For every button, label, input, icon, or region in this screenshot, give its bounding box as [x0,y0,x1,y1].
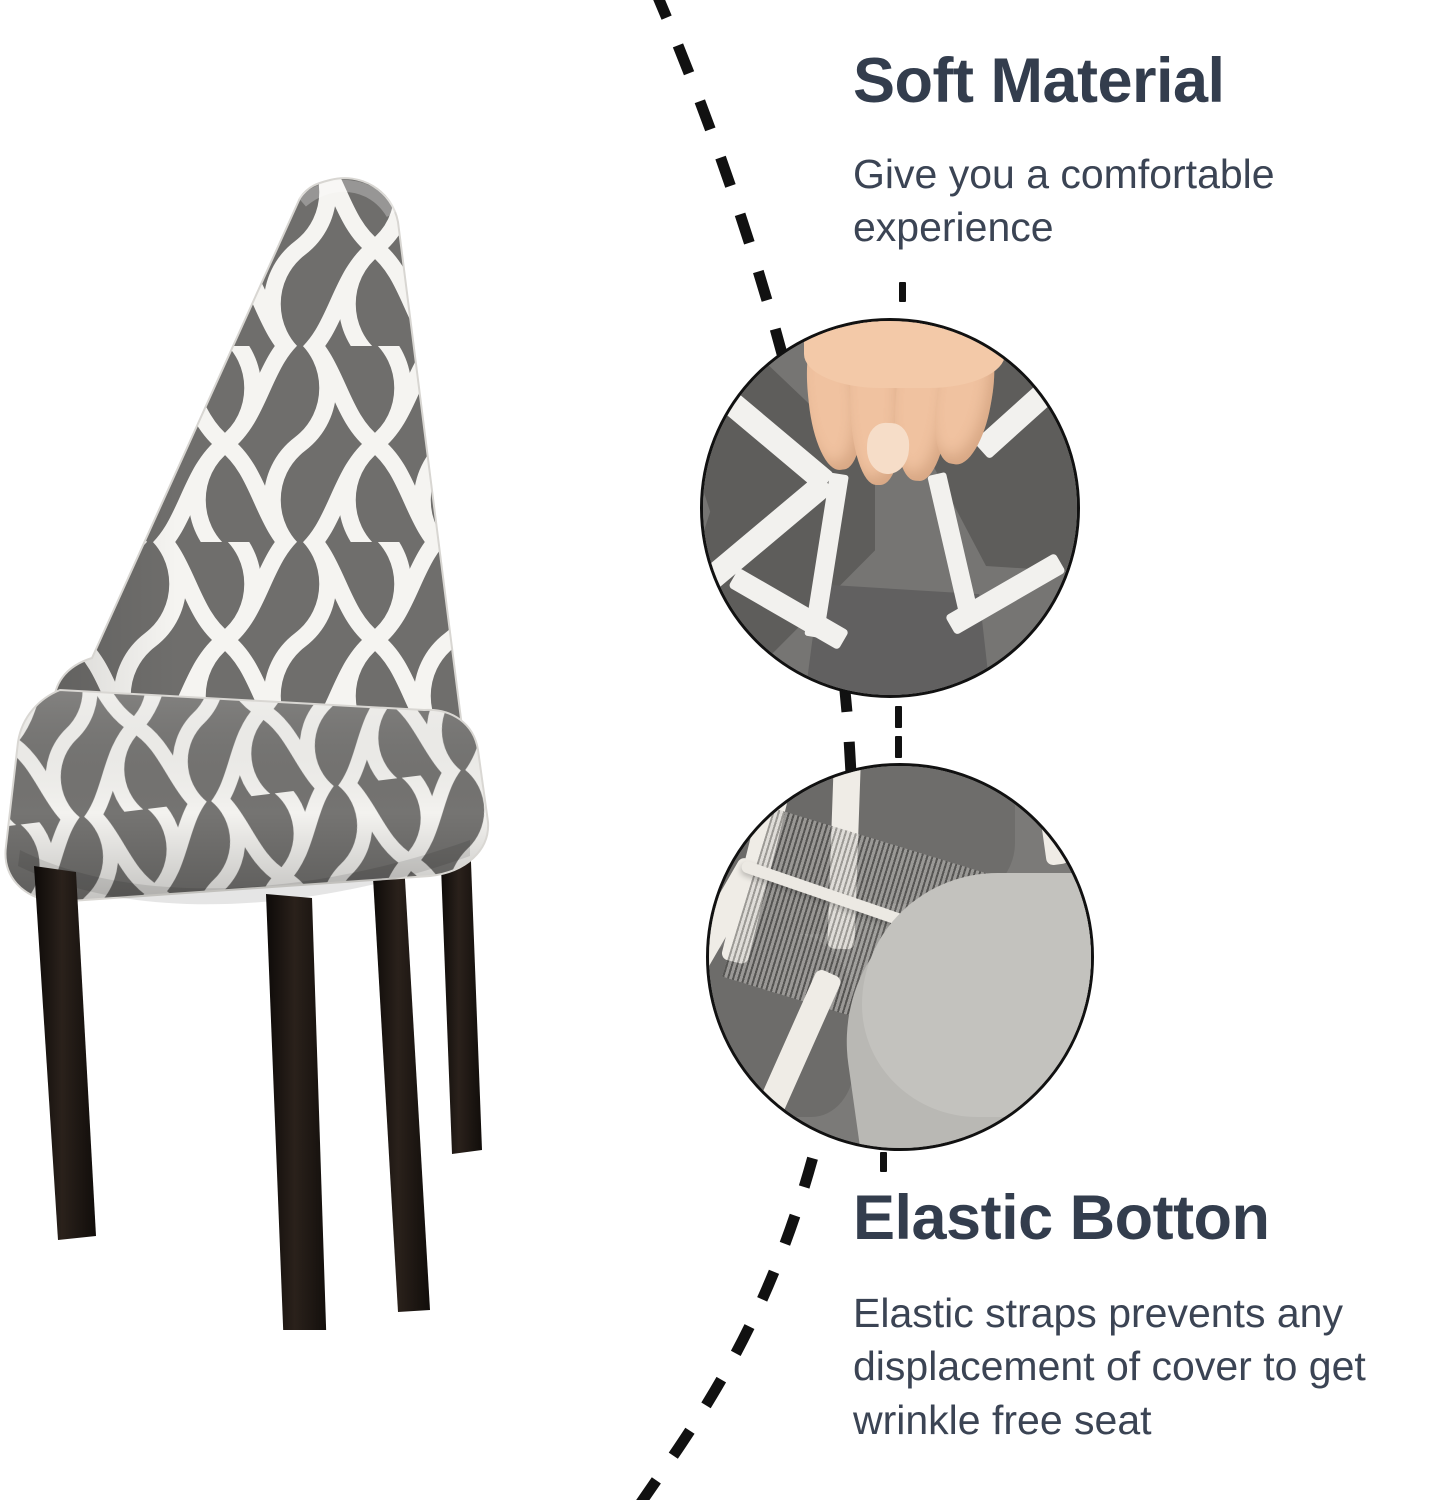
soft-material-subtext: Give you a comfortable experience [853,148,1413,255]
inset-photo-elastic-hem [706,763,1094,1151]
chair-legs-rear [372,836,482,1312]
hand-icon [804,318,1013,501]
thumb-nail [866,422,910,474]
elastic-photo-content [709,766,1091,1148]
elastic-botton-text-block: Elastic Botton Elastic straps prevents a… [853,1185,1428,1447]
chair-legs-front [34,866,330,1330]
connector-dash-below-bottom-circle [880,1152,887,1172]
chair-svg [0,150,680,1330]
stretch-photo-content [703,321,1077,695]
elastic-botton-headline: Elastic Botton [853,1185,1428,1251]
connector-dash-above-top-circle [899,282,906,302]
chair-illustration [0,150,680,1330]
soft-material-headline: Soft Material [853,48,1413,114]
hand-knuckles [804,318,1005,388]
connector-dash-between-circles-upper [895,706,902,728]
infographic-canvas: Soft Material Give you a comfortable exp… [0,0,1429,1500]
inset-photo-hand-stretching-fabric [700,318,1080,698]
elastic-botton-subtext: Elastic straps prevents any displacement… [853,1287,1428,1447]
soft-material-text-block: Soft Material Give you a comfortable exp… [853,48,1413,255]
connector-dash-between-circles-lower [895,736,902,758]
